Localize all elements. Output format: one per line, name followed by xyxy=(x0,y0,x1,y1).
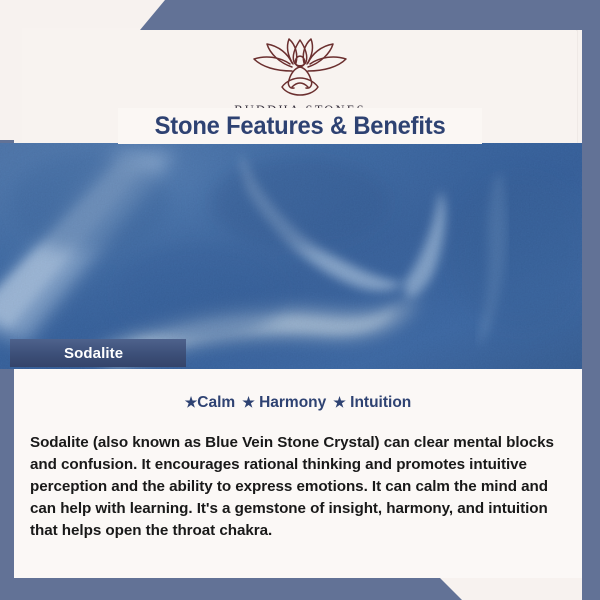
frame-bottom-bar xyxy=(0,578,600,600)
stone-name: Sodalite xyxy=(64,345,123,362)
frame-top-bar xyxy=(0,0,600,30)
star-icon: ★ xyxy=(333,394,346,410)
keyword-calm: Calm xyxy=(197,394,235,411)
page-title: Stone Features & Benefits xyxy=(155,112,446,141)
stone-description: Sodalite (also known as Blue Vein Stone … xyxy=(30,432,566,541)
keyword-harmony: Harmony xyxy=(259,394,326,411)
stone-info-card: BUDDHA STONES Stone Features & Benefits xyxy=(0,0,600,600)
frame-right-bar xyxy=(582,0,600,600)
keyword-list: ★Calm★ Harmony★ Intuition xyxy=(14,394,582,412)
star-icon: ★ xyxy=(185,394,198,410)
title-plate: Stone Features & Benefits xyxy=(118,108,482,144)
keyword-intuition: Intuition xyxy=(350,394,411,411)
stone-name-banner: Sodalite xyxy=(10,339,186,367)
sodalite-stone-photo xyxy=(0,143,582,369)
lotus-meditation-icon xyxy=(245,36,355,102)
star-icon: ★ xyxy=(242,394,255,410)
card-body: ★Calm★ Harmony★ Intuition Sodalite (also… xyxy=(14,369,582,578)
